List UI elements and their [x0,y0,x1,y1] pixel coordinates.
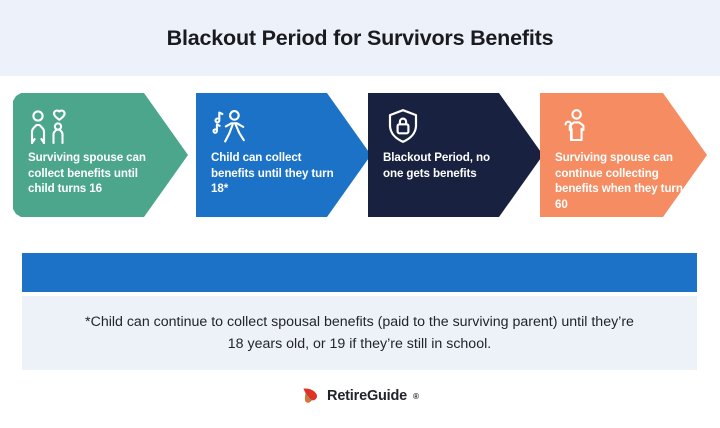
footnote-text: *Child can continue to collect spousal b… [80,311,640,355]
blue-bar [22,253,697,292]
flow-step-label: Surviving spouse can collect benefits un… [28,150,156,197]
flow-step-label: Blackout Period, no one gets benefits [383,150,511,181]
header-band: Blackout Period for Survivors Benefits [0,0,720,76]
benefits-timeline-flow: Surviving spouse can collect benefits un… [13,93,707,217]
retireguide-logo-mark-icon [301,386,321,406]
flow-step-surviving-spouse-until-16: Surviving spouse can collect benefits un… [13,93,188,217]
flow-step-label: Child can collect benefits until they tu… [211,150,339,197]
flow-step-surviving-spouse-at-60: Surviving spouse can continue collecting… [540,93,707,217]
dancing-child-music-icon [211,107,251,145]
parent-and-child-heart-icon [28,107,68,145]
brand-logo: RetireGuide ® [0,386,720,406]
senior-person-cane-icon [555,107,595,145]
flow-step-child-until-18: Child can collect benefits until they tu… [196,93,371,217]
flow-step-blackout-period: Blackout Period, no one gets benefits [368,93,543,217]
shield-lock-icon [383,107,423,145]
brand-name: RetireGuide [327,388,407,404]
footnote-panel: *Child can continue to collect spousal b… [22,296,697,370]
page-title: Blackout Period for Survivors Benefits [0,26,720,51]
registered-trademark-symbol: ® [413,392,419,401]
flow-step-label: Surviving spouse can continue collecting… [555,150,683,212]
